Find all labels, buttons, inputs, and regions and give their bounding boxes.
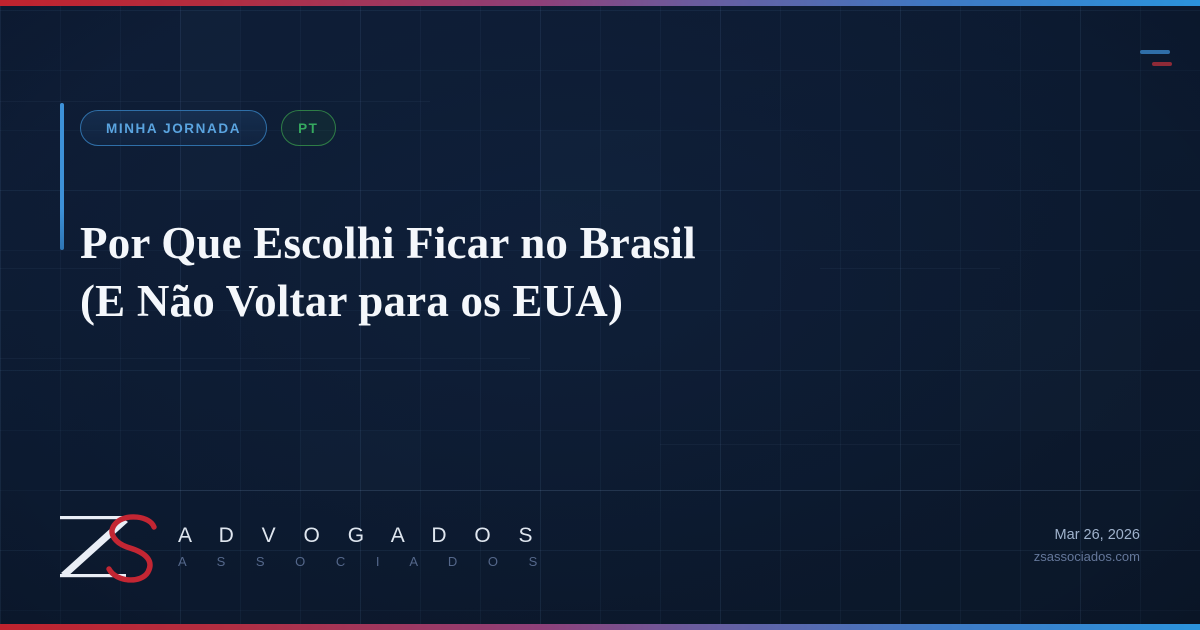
corner-mark-blue-icon (1140, 50, 1170, 54)
brand-primary-text: A D V O G A D O S (178, 525, 551, 546)
publish-date: Mar 26, 2026 (1034, 524, 1140, 546)
badge-category[interactable]: MINHA JORNADA (80, 110, 267, 146)
footer-meta: Mar 26, 2026 zsassociados.com (1034, 524, 1140, 571)
social-share-card: MINHA JORNADA PT Por Que Escolhi Ficar n… (0, 0, 1200, 630)
bottom-gradient-stripe (0, 624, 1200, 630)
badge-language[interactable]: PT (281, 110, 335, 146)
brand-secondary-text: A S S O C I A D O S (178, 555, 551, 568)
badge-group: MINHA JORNADA PT (80, 110, 336, 146)
footer-divider (60, 490, 1140, 491)
page-title: Por Que Escolhi Ficar no Brasil (E Não V… (80, 214, 940, 330)
site-domain: zsassociados.com (1034, 547, 1140, 567)
zs-monogram-icon (60, 511, 170, 585)
title-accent-bar (60, 103, 64, 250)
brand-wordmark: A D V O G A D O S A S S O C I A D O S (178, 525, 551, 570)
page-title-line-1: Por Que Escolhi Ficar no Brasil (80, 214, 940, 272)
top-gradient-stripe (0, 0, 1200, 6)
page-title-line-2: (E Não Voltar para os EUA) (80, 272, 940, 330)
corner-mark-red-icon (1152, 62, 1172, 66)
footer: A D V O G A D O S A S S O C I A D O S Ma… (60, 500, 1140, 595)
brand-lockup: A D V O G A D O S A S S O C I A D O S (60, 511, 551, 585)
